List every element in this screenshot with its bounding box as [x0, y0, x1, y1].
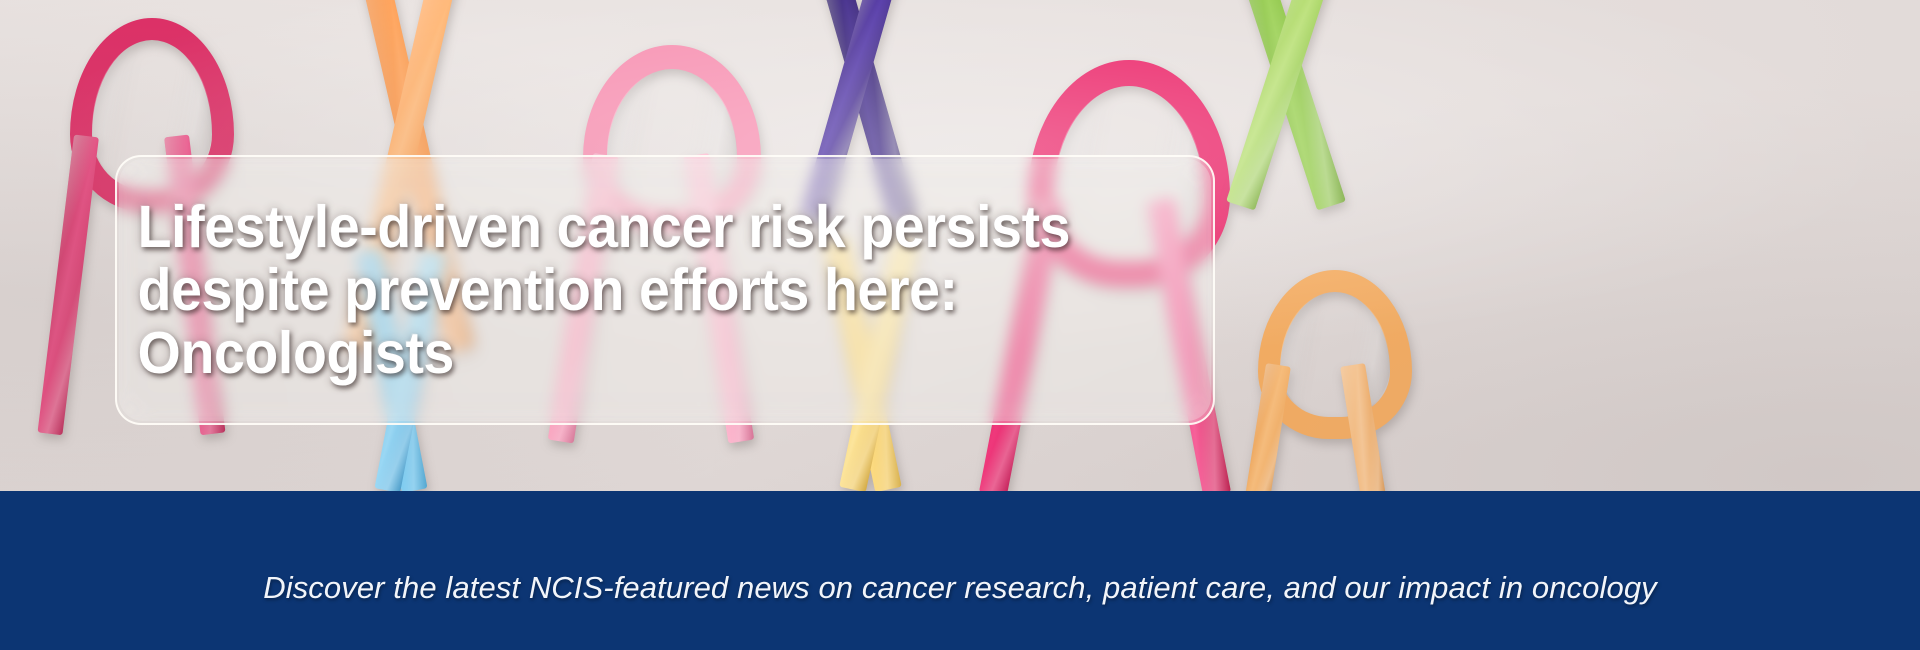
hero-banner: Lifestyle-driven cancer risk persists de…	[0, 0, 1920, 650]
page-title: Lifestyle-driven cancer risk persists de…	[117, 196, 1070, 385]
tagline-bar: Discover the latest NCIS-featured news o…	[0, 491, 1920, 650]
tagline-text: Discover the latest NCIS-featured news o…	[223, 569, 1697, 607]
peach-orange-ribbon	[1250, 270, 1400, 500]
headline-frame: Lifestyle-driven cancer risk persists de…	[115, 155, 1215, 425]
lime-green-ribbon	[1205, 0, 1425, 220]
